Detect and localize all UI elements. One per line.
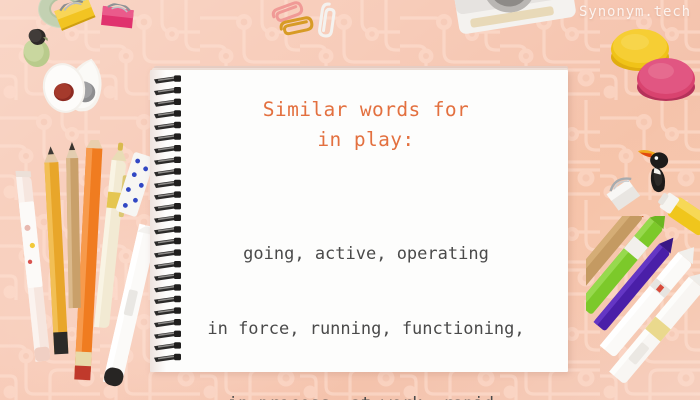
page-title: Similar words forin play: xyxy=(263,100,469,150)
page-title-line2: in play: xyxy=(263,130,469,150)
pencil-group xyxy=(0,140,156,400)
page-content: Similar words forin play: going, active,… xyxy=(180,70,552,372)
notebook-page: Similar words forin play: going, active,… xyxy=(150,70,568,372)
synonym-line: in force, running, functioning, xyxy=(207,317,524,342)
marker-group xyxy=(586,216,700,400)
page-title-line1: Similar words for xyxy=(263,98,469,121)
notebook: Similar words forin play: going, active,… xyxy=(150,70,568,373)
synonym-line: in process, at work, rapid, xyxy=(207,392,524,400)
site-watermark: Synonym.tech xyxy=(579,4,691,20)
macaron-pink-icon xyxy=(635,55,697,103)
spiral-binding: {"count":25,"start":8,"step":11.6} xyxy=(140,68,196,374)
desk-background: Similar words forin play: going, active,… xyxy=(0,0,700,400)
synonym-list: going, active, operating in force, runni… xyxy=(207,192,524,400)
synonym-line: going, active, operating xyxy=(207,242,524,267)
